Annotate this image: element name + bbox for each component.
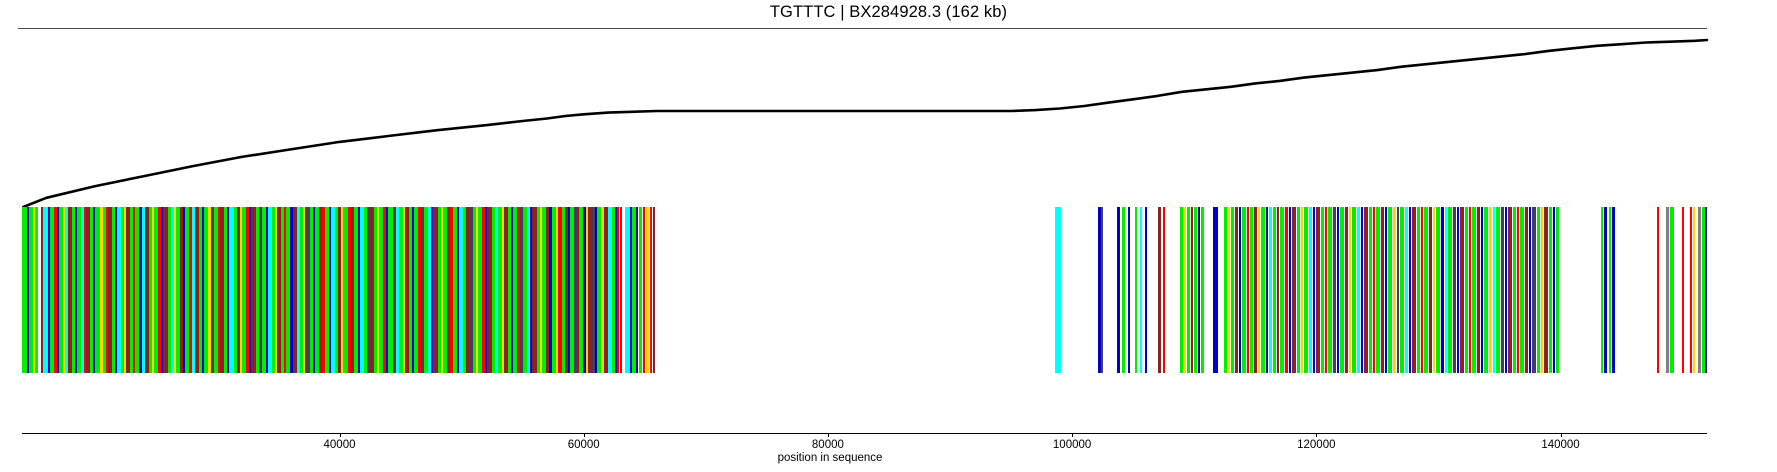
motif-hit-bar bbox=[1187, 207, 1190, 373]
motif-hit-bar bbox=[1532, 207, 1536, 373]
motif-hit-bar bbox=[1337, 207, 1339, 373]
motif-hit-bar bbox=[1424, 207, 1428, 373]
motif-hit-bar bbox=[1361, 207, 1363, 373]
motif-hit-bar bbox=[1349, 207, 1351, 373]
motif-hit-bar bbox=[1477, 207, 1480, 373]
motif-hit-bar bbox=[1441, 207, 1444, 373]
motif-hit-bar bbox=[1184, 207, 1186, 373]
motif-hit-bar bbox=[1352, 207, 1356, 373]
motif-hit-bar bbox=[1520, 207, 1524, 373]
motif-hit-bar bbox=[1601, 207, 1603, 373]
motif-hit-bar bbox=[1345, 207, 1348, 373]
motif-hit-bar bbox=[1690, 207, 1692, 373]
motif-hit-bar bbox=[1421, 207, 1423, 373]
motif-hit-bar bbox=[1508, 207, 1512, 373]
motif-hit-bar bbox=[1433, 207, 1435, 373]
motif-hit-bar bbox=[1609, 207, 1611, 373]
motif-hit-bar bbox=[1481, 207, 1483, 373]
motif-hit-bar bbox=[1158, 207, 1161, 373]
motif-hit-bar bbox=[1417, 207, 1420, 373]
motif-hit-bar bbox=[1445, 207, 1447, 373]
motif-hit-bar bbox=[1239, 207, 1241, 373]
motif-hit-bar bbox=[1412, 207, 1416, 373]
motif-hit-bar bbox=[1269, 207, 1272, 373]
motif-hit-bar bbox=[1194, 207, 1197, 373]
motif-hit-bar bbox=[1140, 207, 1142, 373]
motif-hit-bar bbox=[1135, 207, 1137, 373]
motif-hit-bar bbox=[643, 207, 645, 373]
motif-hit-bar bbox=[1055, 207, 1061, 373]
motif-hit-bar bbox=[1484, 207, 1488, 373]
motif-hit-bar bbox=[636, 207, 638, 373]
motif-hit-bar bbox=[639, 207, 642, 373]
motif-hit-bar bbox=[1682, 207, 1684, 373]
x-axis-tick-label: 120000 bbox=[1297, 439, 1335, 451]
motif-hit-bar bbox=[1505, 207, 1507, 373]
motif-hit-bar bbox=[1457, 207, 1459, 373]
motif-hit-bar bbox=[650, 207, 652, 373]
motif-hit-bar bbox=[1228, 207, 1230, 373]
motif-hit-bar bbox=[1429, 207, 1432, 373]
motif-hit-bar bbox=[1604, 207, 1607, 373]
x-axis-tick-label: 140000 bbox=[1541, 439, 1579, 451]
motif-hit-bar bbox=[1525, 207, 1528, 373]
motif-hit-bar bbox=[1313, 207, 1315, 373]
motif-hit-bar bbox=[1304, 207, 1308, 373]
plot-panel bbox=[0, 0, 1777, 472]
motif-hit-bar bbox=[1405, 207, 1408, 373]
x-axis-tick-label: 100000 bbox=[1053, 439, 1091, 451]
motif-hit-bar bbox=[1277, 207, 1279, 373]
motif-hit-bar bbox=[1250, 207, 1253, 373]
motif-hit-bar bbox=[1213, 207, 1218, 373]
motif-hit-bar bbox=[1198, 207, 1200, 373]
motif-hit-bar bbox=[1549, 207, 1552, 373]
motif-hit-bar bbox=[1501, 207, 1504, 373]
motif-hit-bar bbox=[1666, 207, 1669, 373]
motif-hit-bar bbox=[653, 207, 655, 373]
motif-hit-bar bbox=[1496, 207, 1500, 373]
motif-hit-bar bbox=[1556, 207, 1559, 373]
motif-hit-bar bbox=[1373, 207, 1375, 373]
motif-hit-bar bbox=[1340, 207, 1344, 373]
motif-hit-bar bbox=[1145, 207, 1147, 373]
motif-hit-bar bbox=[1321, 207, 1324, 373]
motif-hit-bar bbox=[1670, 207, 1674, 373]
x-axis-tick bbox=[1561, 433, 1562, 437]
motif-hit-bar bbox=[1273, 207, 1276, 373]
x-axis-label: position in sequence bbox=[778, 452, 883, 464]
motif-hit-bar bbox=[1180, 207, 1183, 373]
x-axis-tick-label: 40000 bbox=[324, 439, 356, 451]
motif-hit-track bbox=[0, 207, 1777, 373]
motif-hit-bar bbox=[1101, 207, 1103, 373]
motif-hit-bar bbox=[1698, 207, 1701, 373]
motif-hit-bar bbox=[1117, 207, 1120, 373]
motif-hit-bar bbox=[1285, 207, 1288, 373]
motif-hit-bar bbox=[1493, 207, 1495, 373]
motif-hit-bar bbox=[1122, 207, 1125, 373]
motif-hit-bar bbox=[1553, 207, 1555, 373]
motif-hit-bar bbox=[1409, 207, 1411, 373]
motif-hit-bar bbox=[1258, 207, 1260, 373]
x-axis-tick-label: 80000 bbox=[812, 439, 844, 451]
motif-hit-bar bbox=[1364, 207, 1368, 373]
motif-hit-bar bbox=[1266, 207, 1268, 373]
motif-hit-bar bbox=[1513, 207, 1516, 373]
motif-hit-bar bbox=[1231, 207, 1234, 373]
motif-hit-bar bbox=[1705, 207, 1707, 373]
motif-hit-bar bbox=[1385, 207, 1387, 373]
x-axis-tick bbox=[828, 433, 829, 437]
x-axis-line bbox=[22, 433, 1707, 434]
motif-hit-bar bbox=[1325, 207, 1327, 373]
motif-hit-bar bbox=[1292, 207, 1296, 373]
motif-hit-bar bbox=[1472, 207, 1476, 373]
motif-hit-bar bbox=[1489, 207, 1492, 373]
motif-hit-bar bbox=[1544, 207, 1548, 373]
motif-hit-bar bbox=[1469, 207, 1471, 373]
motif-hit-bar bbox=[1529, 207, 1531, 373]
motif-hit-bar bbox=[1517, 207, 1519, 373]
motif-hit-bar bbox=[1541, 207, 1543, 373]
motif-hit-bar bbox=[1247, 207, 1249, 373]
motif-hit-bar bbox=[1163, 207, 1165, 373]
motif-hit-bar bbox=[1460, 207, 1464, 373]
motif-hit-bar bbox=[1436, 207, 1440, 373]
motif-hit-bar bbox=[1657, 207, 1659, 373]
x-axis-tick bbox=[340, 433, 341, 437]
motif-hit-bar bbox=[1388, 207, 1392, 373]
motif-hit-bar bbox=[1261, 207, 1265, 373]
cumulative-curve-line bbox=[23, 40, 1707, 207]
motif-hit-bar bbox=[1465, 207, 1468, 373]
x-axis-tick bbox=[1316, 433, 1317, 437]
motif-hit-bar bbox=[1224, 207, 1227, 373]
motif-hit-bar bbox=[1381, 207, 1384, 373]
motif-hit-bar bbox=[1537, 207, 1540, 373]
motif-hit-bar bbox=[620, 207, 622, 373]
motif-hit-bar bbox=[1400, 207, 1404, 373]
motif-hit-bar bbox=[1369, 207, 1372, 373]
motif-hit-bar bbox=[1309, 207, 1312, 373]
motif-plot-figure: TGTTTC | BX284928.3 (162 kb) 40000600008… bbox=[0, 0, 1777, 472]
motif-hit-bar bbox=[1316, 207, 1320, 373]
motif-hit-bar bbox=[1201, 207, 1204, 373]
motif-hit-bar bbox=[1289, 207, 1291, 373]
x-axis-tick-label: 60000 bbox=[568, 439, 600, 451]
motif-hit-bar bbox=[1397, 207, 1399, 373]
motif-hit-bar bbox=[1693, 207, 1695, 373]
motif-hit-bar bbox=[1328, 207, 1332, 373]
x-axis-tick bbox=[584, 433, 585, 437]
motif-hit-bar bbox=[1297, 207, 1300, 373]
motif-hit-bar bbox=[1612, 207, 1615, 373]
motif-hit-bar bbox=[1254, 207, 1257, 373]
motif-hit-bar bbox=[1235, 207, 1238, 373]
motif-hit-bar bbox=[1128, 207, 1130, 373]
x-axis-tick bbox=[1072, 433, 1073, 437]
motif-hit-bar bbox=[1376, 207, 1380, 373]
motif-hit-bar bbox=[1242, 207, 1246, 373]
motif-hit-bar bbox=[1191, 207, 1193, 373]
motif-hit-bar bbox=[1357, 207, 1360, 373]
motif-hit-bar bbox=[646, 207, 649, 373]
motif-hit-bar bbox=[1280, 207, 1284, 373]
motif-hit-bar bbox=[1453, 207, 1456, 373]
motif-hit-bar bbox=[1333, 207, 1336, 373]
motif-hit-bar bbox=[617, 207, 619, 373]
motif-hit-bar bbox=[1301, 207, 1303, 373]
motif-hit-bar bbox=[1393, 207, 1396, 373]
motif-hit-bar bbox=[1448, 207, 1452, 373]
